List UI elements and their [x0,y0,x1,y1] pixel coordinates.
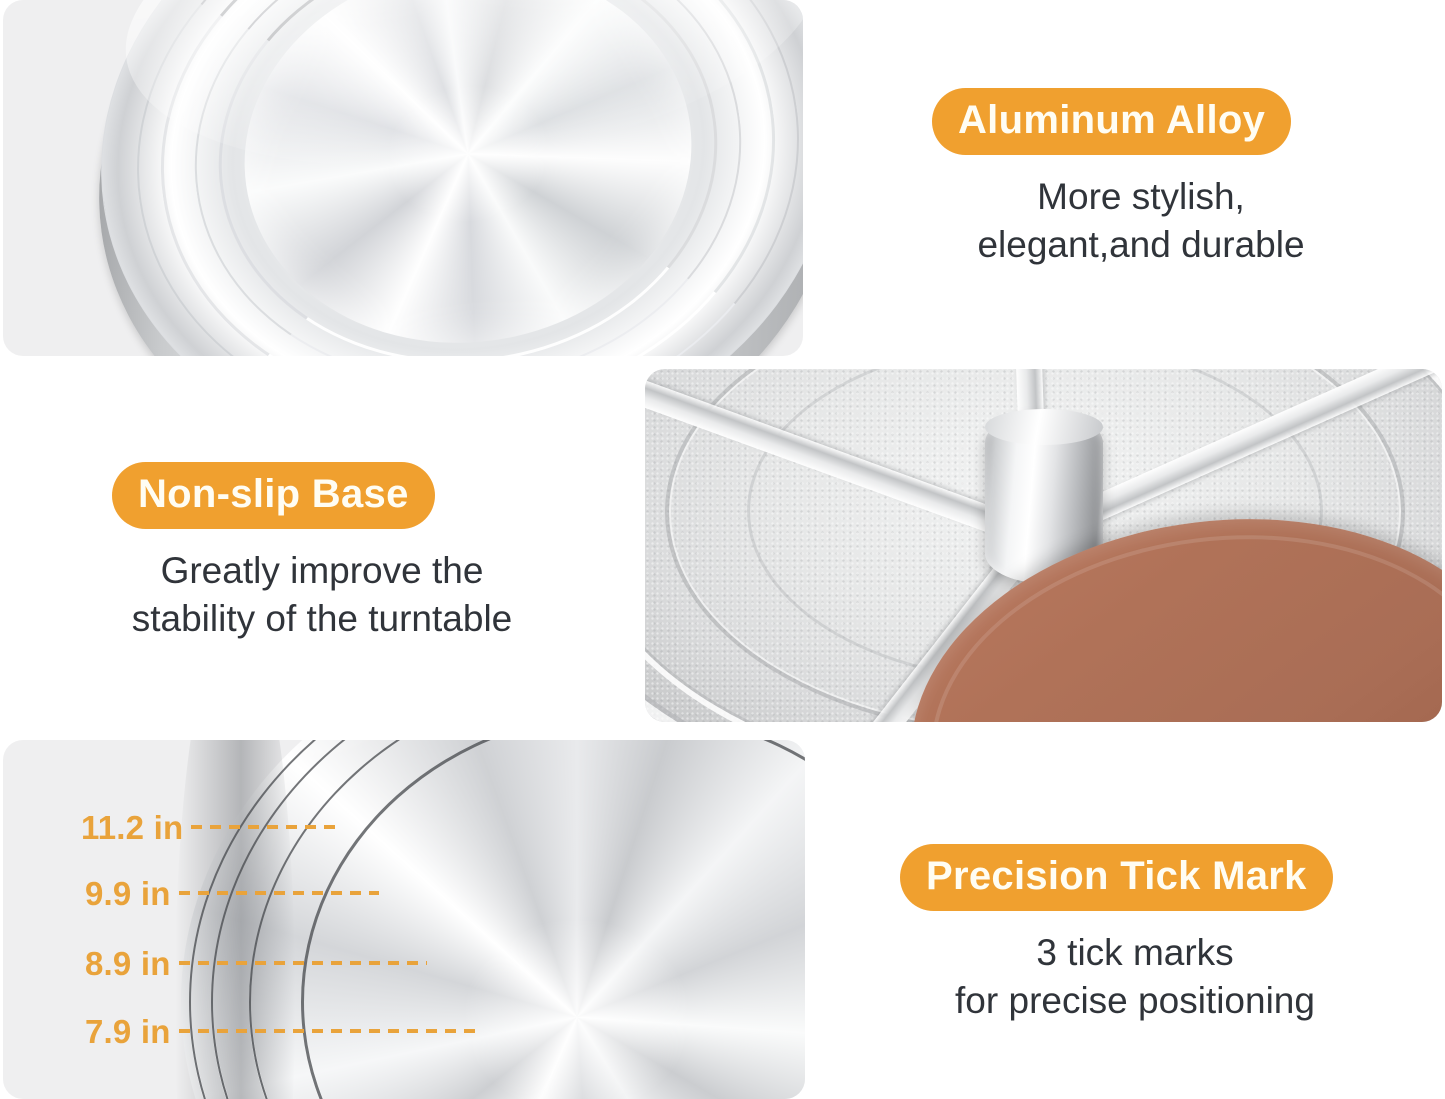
non-slip-base-description-line-2: stability of the turntable [104,595,540,643]
tick-label-11-2-in: 11.2 in [81,811,183,844]
non-slip-base-description-line-1: Greatly improve the [104,547,540,595]
precision-tick-mark-description: 3 tick marks for precise positioning [900,929,1370,1025]
precision-tick-mark-badge: Precision Tick Mark [900,844,1333,911]
tick-label-7-9-in: 7.9 in [85,1015,171,1048]
tick-leader-line-4 [179,1029,479,1033]
tick-measurement-row: 9.9 in [85,870,379,916]
non-slip-base-photo-panel [645,369,1442,722]
tick-label-8-9-in: 8.9 in [85,947,171,980]
non-slip-base-description: Greatly improve the stability of the tur… [104,547,540,643]
precision-tick-mark-description-line-1: 3 tick marks [900,929,1370,977]
precision-tick-mark-text-block: Precision Tick Mark 3 tick marks for pre… [900,844,1370,1025]
turntable-underside-image [645,369,1442,722]
tick-leader-line-2 [179,891,379,895]
non-slip-base-text-block: Non-slip Base Greatly improve the stabil… [112,462,540,643]
aluminum-alloy-text-block: Aluminum Alloy More stylish, elegant,and… [932,88,1350,269]
aluminum-turntable-image [98,0,803,356]
tick-leader-line-1 [191,825,341,829]
tick-measurement-row: 8.9 in [85,940,427,986]
infographic-canvas: Aluminum Alloy More stylish, elegant,and… [0,0,1445,1099]
tick-label-9-9-in: 9.9 in [85,877,171,910]
non-slip-base-badge: Non-slip Base [112,462,435,529]
tick-measurement-row: 11.2 in [81,804,341,850]
precision-tick-mark-photo-panel: 11.2 in 9.9 in 8.9 in 7.9 in [3,740,805,1099]
aluminum-alloy-badge: Aluminum Alloy [932,88,1291,155]
aluminum-alloy-description: More stylish, elegant,and durable [932,173,1350,269]
aluminum-alloy-description-line-1: More stylish, [932,173,1350,221]
tick-measurement-row: 7.9 in [85,1008,479,1054]
aluminum-alloy-description-line-2: elegant,and durable [932,221,1350,269]
precision-tick-mark-description-line-2: for precise positioning [900,977,1370,1025]
aluminum-alloy-photo-panel [3,0,803,356]
tick-leader-line-3 [179,961,427,965]
